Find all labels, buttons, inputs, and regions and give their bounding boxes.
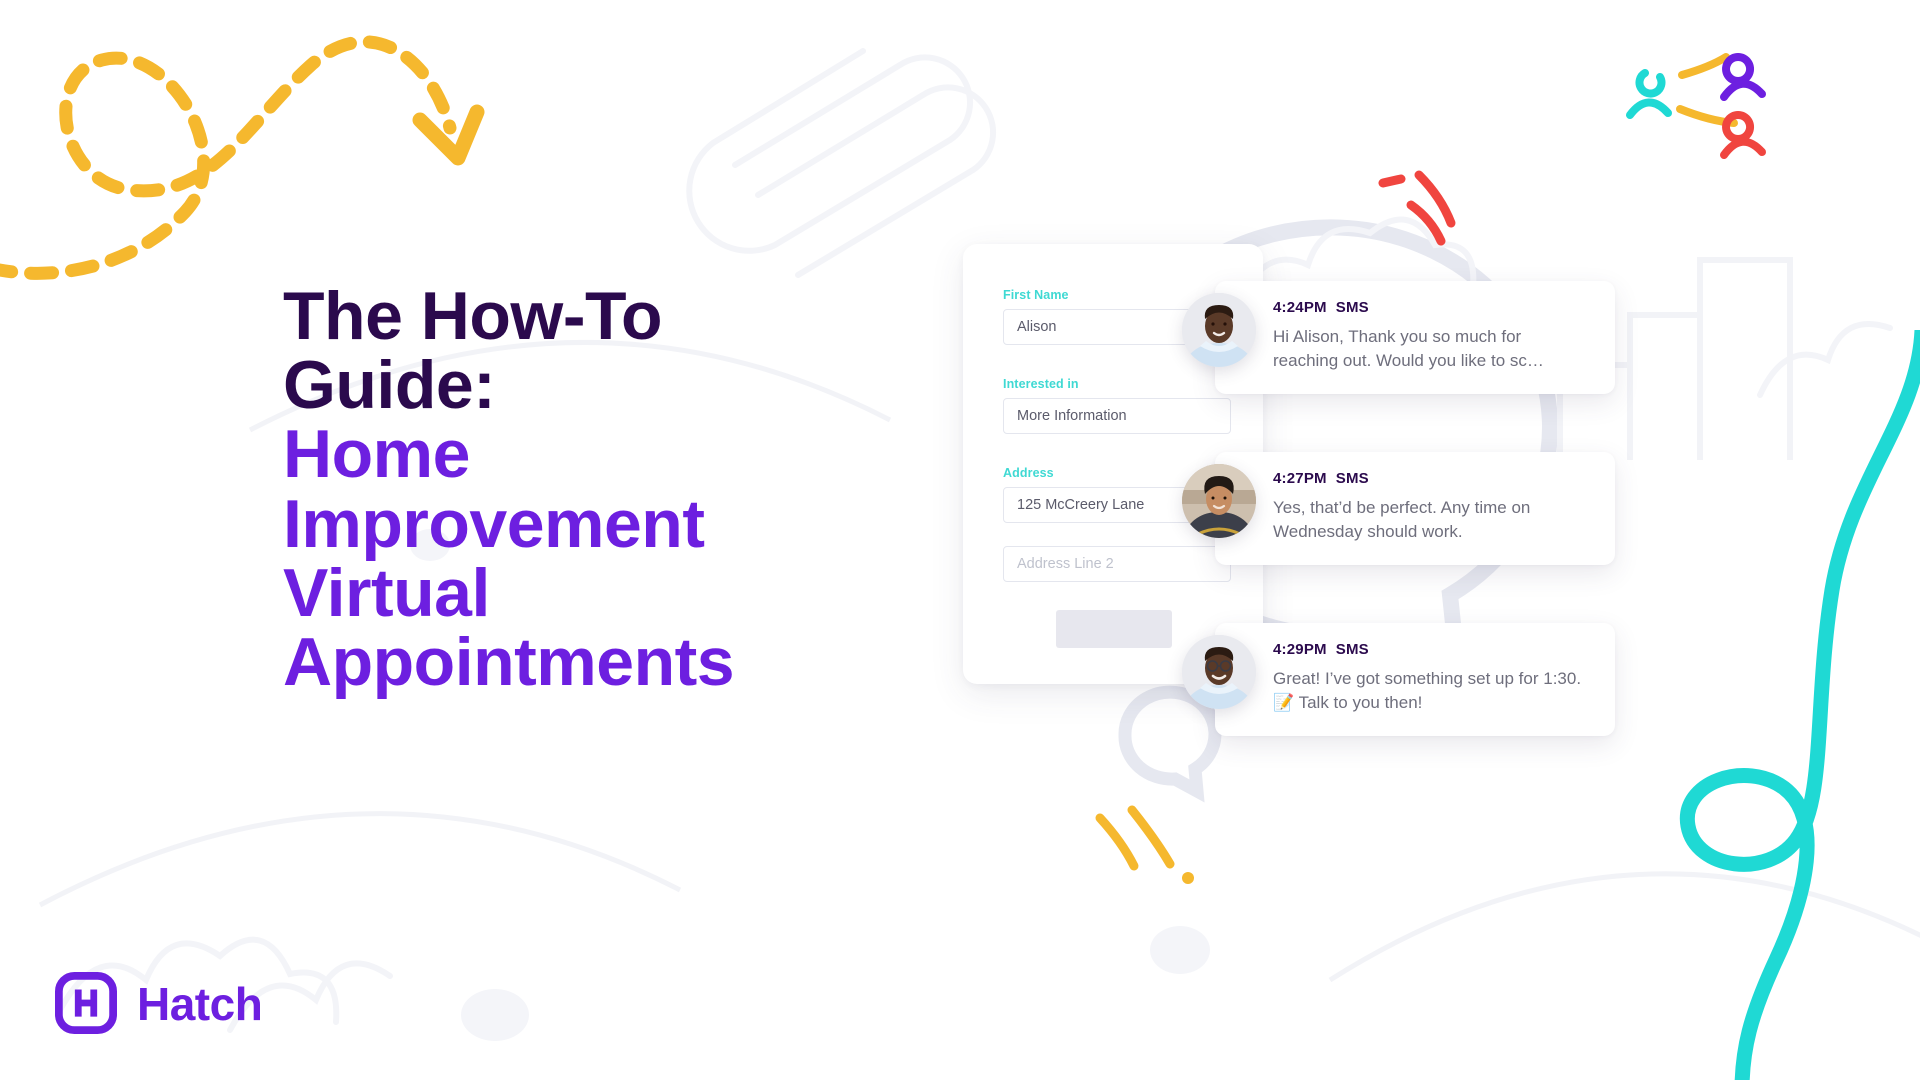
message-channel: SMS [1336, 641, 1369, 658]
message-text: Great! I’ve got something set up for 1:3… [1273, 667, 1583, 716]
hatch-h-logo-icon [55, 972, 117, 1034]
avatar [1182, 464, 1256, 538]
message-time: 4:24PM [1273, 299, 1327, 316]
message-meta: 4:27PMSMS [1273, 470, 1587, 487]
message-time: 4:29PM [1273, 641, 1327, 658]
brand-lockup: Hatch [55, 972, 262, 1034]
headline-line-4: Improvement [283, 490, 923, 559]
message-time: 4:27PM [1273, 470, 1327, 487]
avatar [1182, 635, 1256, 709]
page-canvas: The How-To Guide: Home Improvement Virtu… [0, 0, 1920, 1080]
message-meta: 4:24PMSMS [1273, 299, 1587, 316]
interested-in-input[interactable]: More Information [1003, 398, 1231, 434]
message-bubble[interactable]: 4:24PMSMS Hi Alison, Thank you so much f… [1215, 281, 1615, 394]
message-text: Hi Alison, Thank you so much for reachin… [1273, 325, 1583, 374]
headline-line-3: Home [283, 420, 923, 489]
brand-wordmark: Hatch [137, 981, 262, 1027]
avatar [1182, 293, 1256, 367]
message-bubble[interactable]: 4:27PMSMS Yes, that’d be perfect. Any ti… [1215, 452, 1615, 565]
message-bubble[interactable]: 4:29PMSMS Great! I’ve got something set … [1215, 623, 1615, 736]
form-submit-button[interactable] [1056, 610, 1172, 648]
headline-line-6: Appointments [283, 628, 923, 697]
message-meta: 4:29PMSMS [1273, 641, 1587, 658]
message-channel: SMS [1336, 470, 1369, 487]
page-title: The How-To Guide: Home Improvement Virtu… [283, 282, 923, 698]
field-label-interested-in: Interested in [1003, 377, 1231, 391]
address-line-2-input[interactable]: Address Line 2 [1003, 546, 1231, 582]
headline-line-2: Guide: [283, 351, 923, 420]
form-field-address-line-2: Address Line 2 [1003, 546, 1231, 582]
message-text: Yes, that’d be perfect. Any time on Wedn… [1273, 496, 1583, 545]
form-field-interested-in: Interested in More Information [1003, 377, 1231, 434]
message-channel: SMS [1336, 299, 1369, 316]
headline-line-5: Virtual [283, 559, 923, 628]
headline-line-1: The How-To [283, 282, 923, 351]
